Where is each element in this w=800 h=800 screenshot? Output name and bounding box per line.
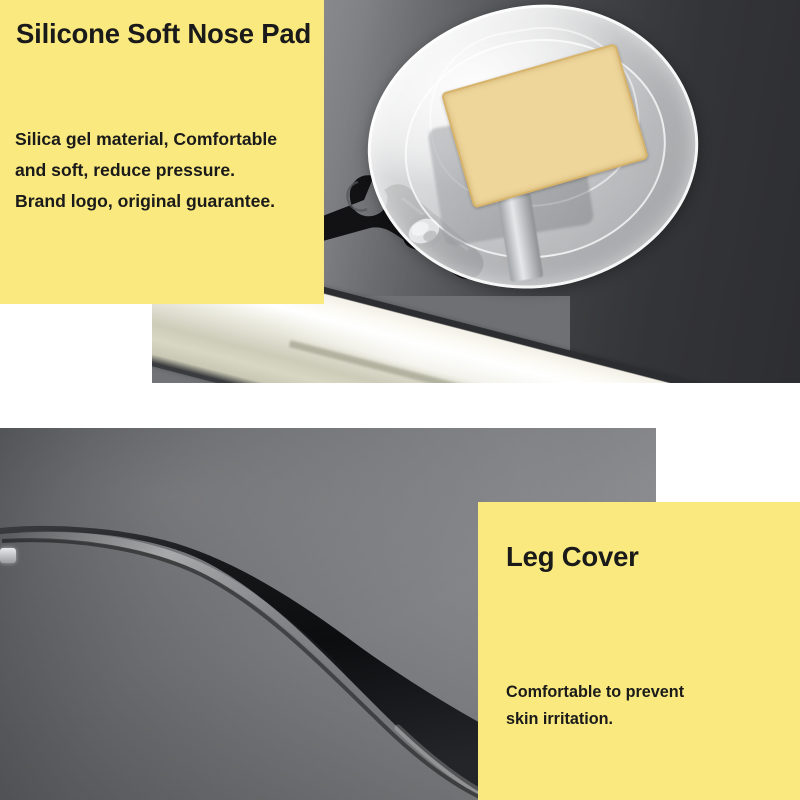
section-nose-pad: Silicone Soft Nose Pad Silica gel materi… [0,0,800,384]
leg-cover-description-line-2: skin irritation. [506,706,776,733]
leg-cover-title: Leg Cover [506,541,639,573]
leg-cover-description-line-1: Comfortable to prevent [506,679,776,706]
nose-pad-title: Silicone Soft Nose Pad [16,18,311,50]
nose-pad-description-line-2: and soft, reduce pressure. [15,155,315,186]
product-feature-image: Silicone Soft Nose Pad Silica gel materi… [0,0,800,800]
nose-pad-description-line-1: Silica gel material, Comfortable [15,124,315,155]
leg-cover-description: Comfortable to prevent skin irritation. [506,679,776,733]
temple-hinge-tip [0,548,16,563]
leg-cover-caption-panel: Leg Cover Comfortable to prevent skin ir… [478,502,800,800]
nose-pad-description: Silica gel material, Comfortable and sof… [15,124,315,217]
nose-pad-description-line-3: Brand logo, original guarantee. [15,186,315,217]
nose-pad-caption-panel: Silicone Soft Nose Pad Silica gel materi… [0,0,324,304]
